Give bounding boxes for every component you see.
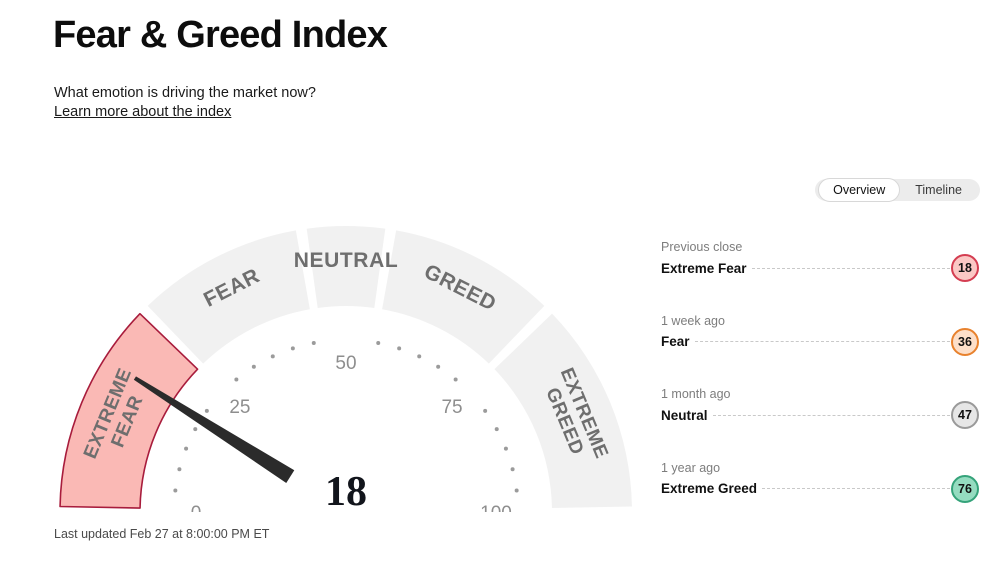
gauge-tick-dot	[252, 365, 256, 369]
last-updated-text: Last updated Feb 27 at 8:00:00 PM ET	[54, 527, 269, 541]
list-item-label: Extreme Fear	[661, 261, 752, 276]
gauge-tick-dot	[495, 427, 499, 431]
list-item-when: 1 year ago	[661, 461, 979, 475]
list-item-label: Fear	[661, 334, 695, 349]
gauge-tick-dot	[376, 341, 380, 345]
gauge-tick-dot	[234, 377, 238, 381]
list-item-label: Extreme Greed	[661, 481, 762, 496]
page-title: Fear & Greed Index	[53, 14, 387, 58]
gauge-segment-label: NEUTRAL	[294, 249, 399, 272]
gauge-tick-dot	[177, 467, 181, 471]
gauge-tick-dot	[271, 354, 275, 358]
tab-timeline[interactable]: Timeline	[900, 178, 977, 202]
gauge-tick-dot	[205, 409, 209, 413]
gauge-tick-dot	[173, 488, 177, 492]
leader-line	[762, 487, 955, 489]
list-item-when: Previous close	[661, 240, 979, 254]
list-item-row: Extreme Fear 18	[661, 258, 979, 278]
gauge-scale-label: 50	[335, 353, 356, 374]
gauge-svg: EXTREMEFEARFEARNEUTRALGREEDEXTREMEGREED …	[30, 200, 670, 512]
gauge-tick-dot	[184, 447, 188, 451]
status-badge: 18	[951, 254, 979, 282]
status-badge: 36	[951, 328, 979, 356]
gauge-scale-label: 0	[191, 503, 202, 512]
gauge-tick-dot	[511, 467, 515, 471]
list-item-row: Extreme Greed 76	[661, 479, 979, 499]
gauge-tick-dot	[397, 346, 401, 350]
list-item[interactable]: Previous close Extreme Fear 18	[661, 240, 979, 314]
status-badge: 47	[951, 401, 979, 429]
leader-line	[752, 267, 955, 269]
gauge-tick-dot	[193, 427, 197, 431]
gauge-tick-dot	[454, 377, 458, 381]
list-item[interactable]: 1 year ago Extreme Greed 76	[661, 461, 979, 535]
view-toggle[interactable]: Overview Timeline	[815, 179, 980, 201]
gauge-tick-dot	[291, 346, 295, 350]
gauge-value-text: 18	[325, 469, 367, 512]
gauge-tick-dot	[515, 488, 519, 492]
gauge-tick-dot	[417, 354, 421, 358]
gauge-scale-label: 25	[229, 397, 250, 418]
list-item-when: 1 week ago	[661, 314, 979, 328]
leader-line	[695, 340, 955, 342]
page-subtitle: What emotion is driving the market now?	[54, 84, 316, 104]
list-item-row: Neutral 47	[661, 405, 979, 425]
list-item-when: 1 month ago	[661, 387, 979, 401]
gauge-tick-dot	[312, 341, 316, 345]
list-item-label: Neutral	[661, 408, 713, 423]
list-item-row: Fear 36	[661, 332, 979, 352]
tab-overview[interactable]: Overview	[818, 178, 900, 202]
status-badge: 76	[951, 475, 979, 503]
fear-greed-gauge[interactable]: EXTREMEFEARFEARNEUTRALGREEDEXTREMEGREED …	[30, 200, 670, 512]
leader-line	[713, 414, 955, 416]
gauge-tick-dot	[436, 365, 440, 369]
list-item[interactable]: 1 month ago Neutral 47	[661, 387, 979, 461]
learn-more-link[interactable]: Learn more about the index	[54, 104, 231, 120]
list-item[interactable]: 1 week ago Fear 36	[661, 314, 979, 388]
gauge-scale-label: 75	[441, 397, 462, 418]
gauge-tick-dot	[504, 447, 508, 451]
comparison-list: Previous close Extreme Fear 18 1 week ag…	[661, 240, 979, 534]
gauge-tick-dot	[483, 409, 487, 413]
gauge-scale-label: 100	[480, 503, 512, 512]
